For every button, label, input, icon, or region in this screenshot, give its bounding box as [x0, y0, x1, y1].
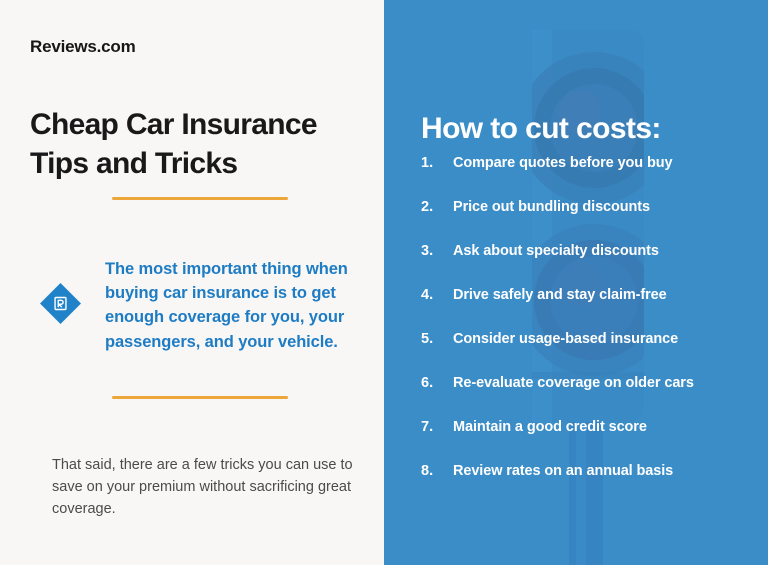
list-item: 4. Drive safely and stay claim-free [421, 287, 761, 331]
list-item: 7. Maintain a good credit score [421, 419, 761, 463]
tip-label: Price out bundling discounts [453, 199, 650, 215]
list-item: 6. Re-evaluate coverage on older cars [421, 375, 761, 419]
infographic-root: Reviews.com Cheap Car Insurance Tips and… [0, 0, 768, 565]
tip-label: Maintain a good credit score [453, 419, 647, 435]
list-item: 5. Consider usage-based insurance [421, 331, 761, 375]
tip-number: 6. [421, 375, 453, 391]
brand-logo: Reviews.com [30, 37, 136, 57]
reviews-r-monogram-icon [40, 283, 81, 324]
list-item: 2. Price out bundling discounts [421, 199, 761, 243]
monogram-glyph [53, 296, 68, 311]
tip-number: 8. [421, 463, 453, 479]
left-panel: Reviews.com Cheap Car Insurance Tips and… [0, 0, 384, 565]
tip-label: Compare quotes before you buy [453, 155, 672, 171]
closing-note: That said, there are a few tricks you ca… [52, 454, 362, 521]
tip-number: 7. [421, 419, 453, 435]
panel-heading: How to cut costs: [421, 112, 661, 146]
tip-label: Consider usage-based insurance [453, 331, 678, 347]
page-title: Cheap Car Insurance Tips and Tricks [30, 105, 370, 184]
tip-number: 2. [421, 199, 453, 215]
tip-label: Re-evaluate coverage on older cars [453, 375, 694, 391]
tip-label: Drive safely and stay claim-free [453, 287, 667, 303]
right-panel: How to cut costs: 1. Compare quotes befo… [384, 0, 768, 565]
list-item: 3. Ask about specialty discounts [421, 243, 761, 287]
tip-label: Review rates on an annual basis [453, 463, 673, 479]
tip-label: Ask about specialty discounts [453, 243, 659, 259]
tip-number: 5. [421, 331, 453, 347]
tip-number: 1. [421, 155, 453, 171]
tip-number: 3. [421, 243, 453, 259]
tips-list: 1. Compare quotes before you buy 2. Pric… [421, 155, 761, 507]
list-item: 1. Compare quotes before you buy [421, 155, 761, 199]
list-item: 8. Review rates on an annual basis [421, 463, 761, 507]
quote-text: The most important thing when buying car… [105, 257, 375, 355]
tip-number: 4. [421, 287, 453, 303]
divider-bottom [112, 396, 288, 399]
divider-top [112, 197, 288, 200]
